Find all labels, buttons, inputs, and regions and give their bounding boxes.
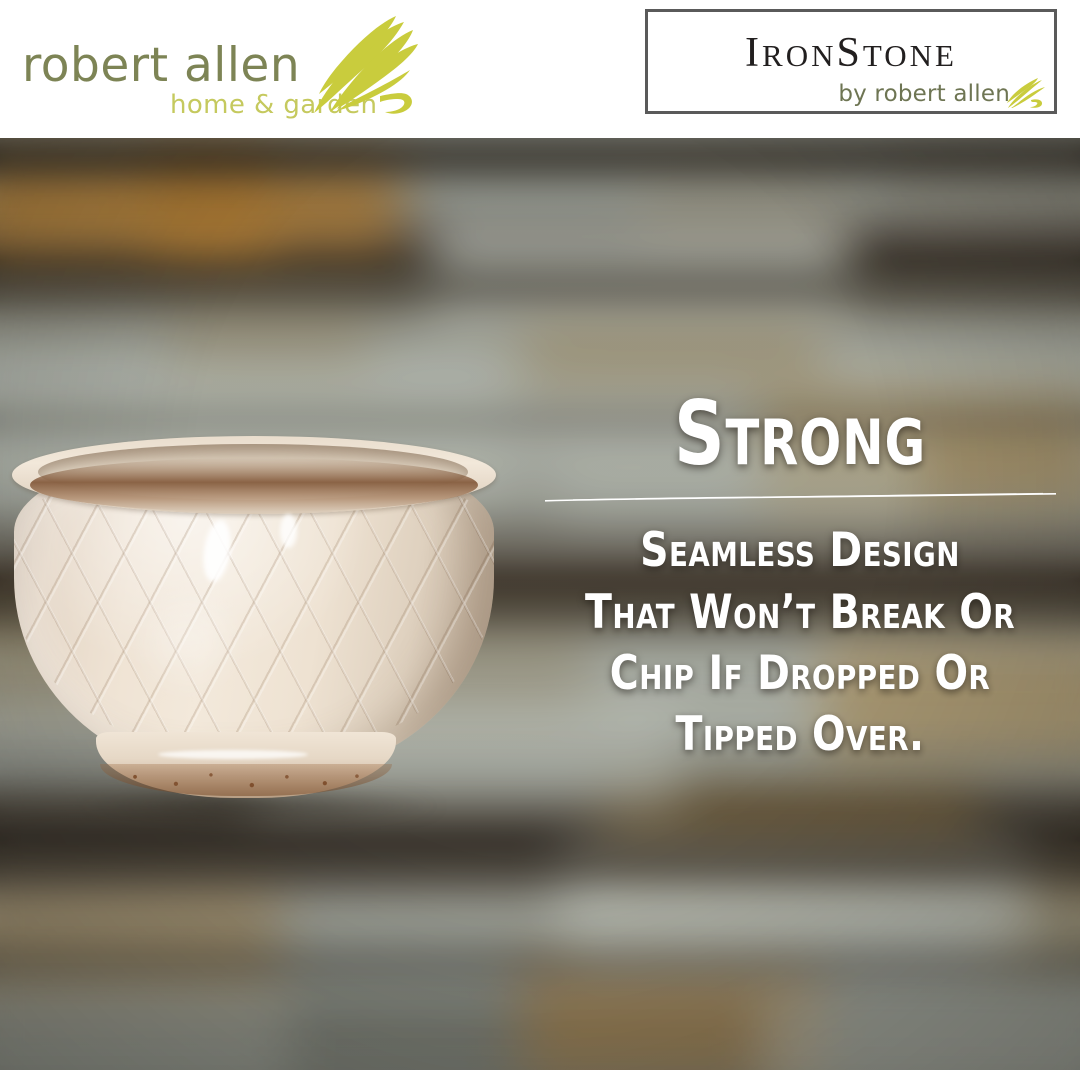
planter-rim-speckle [30,458,478,512]
product-marketing-image: robert allen home & garden IRONSTONE by … [0,0,1080,1070]
ironstone-s: S [837,30,863,76]
ironstone-byline: by robert allen [838,81,1010,107]
brush-stroke-divider [543,490,1058,504]
leaf-icon [1004,78,1046,108]
headline: Strong [576,392,1024,476]
ironstone-tone: TONE [863,38,957,73]
ironstone-i: I [745,30,762,76]
leaf-icon [280,14,420,124]
planter-gloss-highlight [128,582,248,702]
subheadline-line: Chip If Dropped Or [565,643,1035,704]
subheadline: Seamless Design That Won’t Break Or Chip… [565,520,1035,764]
subheadline-line: Tipped Over. [565,704,1035,765]
brand-lockup: robert allen home & garden [18,16,418,126]
marketing-copy: Strong Seamless Design That Won’t Break … [520,392,1080,765]
subheadline-line: That Won’t Break Or [565,582,1035,643]
subheadline-line: Seamless Design [565,520,1035,581]
header-bar: robert allen home & garden IRONSTONE by … [0,0,1080,138]
ironstone-wordmark: IRONSTONE [648,29,1054,77]
ironstone-ron: RON [762,38,836,73]
ironstone-logo-box: IRONSTONE by robert allen [645,9,1057,114]
brand-name: robert allen [22,42,300,89]
planter-foot-gloss [158,750,308,759]
divider-stroke [543,490,1058,504]
product-image [8,432,500,832]
planter-gloss-highlight [280,514,297,548]
